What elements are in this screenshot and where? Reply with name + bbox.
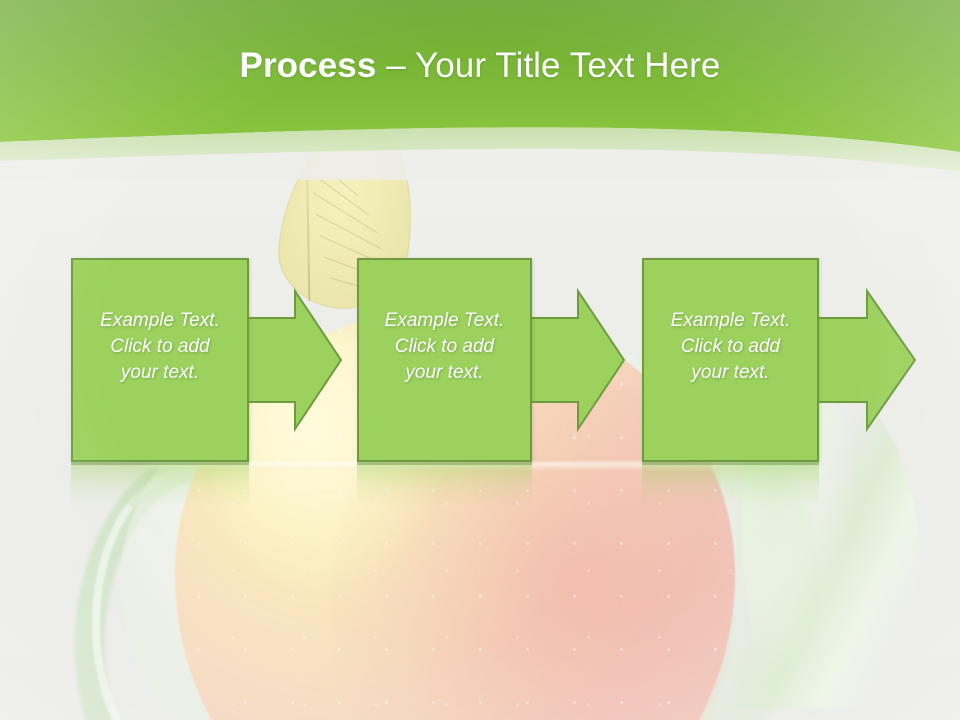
step-1-reflection bbox=[71, 463, 249, 507]
step-2-baseline bbox=[357, 462, 532, 465]
process-step-3[interactable]: Example Text. Click to add your text. bbox=[642, 258, 819, 462]
slide: Process – Your Title Text Here bbox=[0, 0, 960, 720]
process-step-2[interactable]: Example Text. Click to add your text. bbox=[357, 258, 532, 462]
step-3-reflection bbox=[642, 463, 819, 507]
step-2-reflection bbox=[357, 463, 532, 507]
arrow-right-icon-2 bbox=[530, 258, 626, 462]
arrow-right-icon-1 bbox=[247, 258, 343, 462]
step-1-text[interactable]: Example Text. Click to add your text. bbox=[77, 308, 243, 386]
step-3-baseline bbox=[642, 462, 819, 465]
process-diagram: Example Text. Click to add your text. Ex… bbox=[0, 0, 960, 720]
arrow-right-icon-3 bbox=[817, 258, 917, 462]
step-3-text[interactable]: Example Text. Click to add your text. bbox=[648, 308, 813, 386]
process-step-1[interactable]: Example Text. Click to add your text. bbox=[71, 258, 249, 462]
step-1-baseline bbox=[71, 462, 249, 465]
step-2-text[interactable]: Example Text. Click to add your text. bbox=[363, 308, 526, 386]
